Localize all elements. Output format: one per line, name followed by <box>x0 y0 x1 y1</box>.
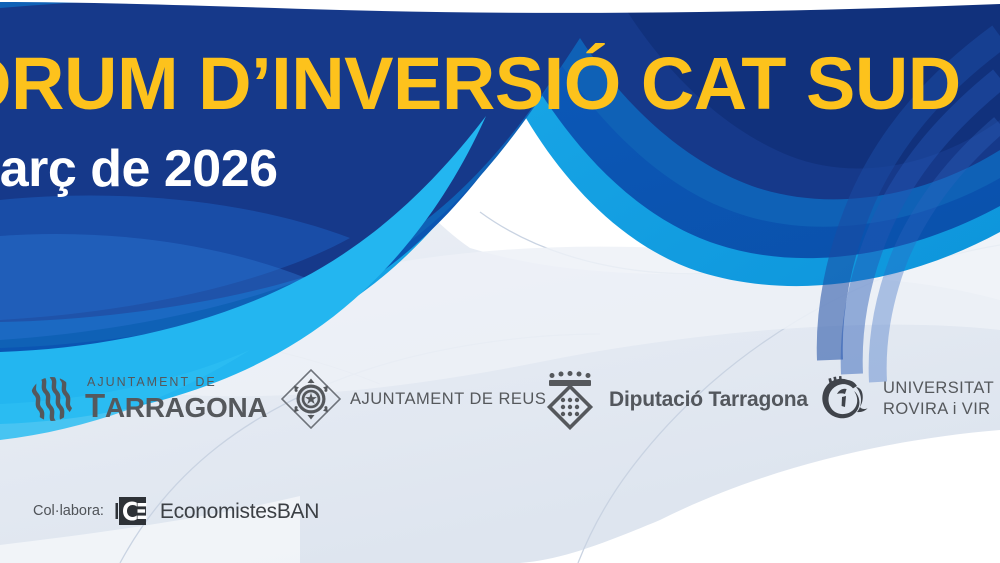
reus-wordmark: AJUNTAMENT DE REUS <box>350 391 546 408</box>
diputacio-dot-grid <box>561 398 579 416</box>
tarragona-waves-circle-icon <box>28 375 76 423</box>
background-artwork <box>0 0 1000 563</box>
tarragona-wordmark: AJUNTAMENT DE TARRAGONA <box>85 376 267 423</box>
urv-line-1: UNIVERSITAT <box>883 378 994 399</box>
partner-logo-ajuntament-tarragona[interactable]: AJUNTAMENT DE TARRAGONA <box>28 362 267 436</box>
collaborator-row: Col·labora: EconomistesBAN <box>33 496 319 526</box>
collaborator-name: EconomistesBAN <box>160 501 319 522</box>
tarragona-line-2: TARRAGONA <box>85 389 267 422</box>
tarragona-line-1: AJUNTAMENT DE <box>85 376 267 389</box>
urv-line-2: ROVIRA i VIR <box>883 399 994 420</box>
urv-brush-a-icon <box>818 373 874 425</box>
partner-logo-ajuntament-reus[interactable]: AJUNTAMENT DE REUS <box>281 362 546 436</box>
partner-logo-diputacio-tarragona[interactable]: Diputació Tarragona <box>540 362 808 436</box>
tarragona-line-2-rest: ARRAGONA <box>105 392 267 423</box>
diputacio-crown <box>549 371 591 386</box>
tarragona-line-2-cap: T <box>85 387 105 424</box>
reus-diamond-rosette-icon <box>281 369 341 429</box>
collaborator-label: Col·labora: <box>33 504 104 519</box>
poster-canvas: ÒRUM D’INVERSIÓ CAT SUD març de 2026 AJU… <box>0 0 1000 563</box>
partner-logo-strip: AJUNTAMENT DE TARRAGONA <box>0 362 1000 436</box>
diputacio-wordmark: Diputació Tarragona <box>609 389 808 410</box>
diputacio-crown-diamond-icon <box>540 368 600 430</box>
partner-logo-universitat-rovira-i-virgili[interactable]: UNIVERSITAT ROVIRA i VIR <box>818 362 994 436</box>
urv-wordmark: UNIVERSITAT ROVIRA i VIR <box>883 378 994 419</box>
economistesban-ce-monogram-icon <box>115 496 149 526</box>
